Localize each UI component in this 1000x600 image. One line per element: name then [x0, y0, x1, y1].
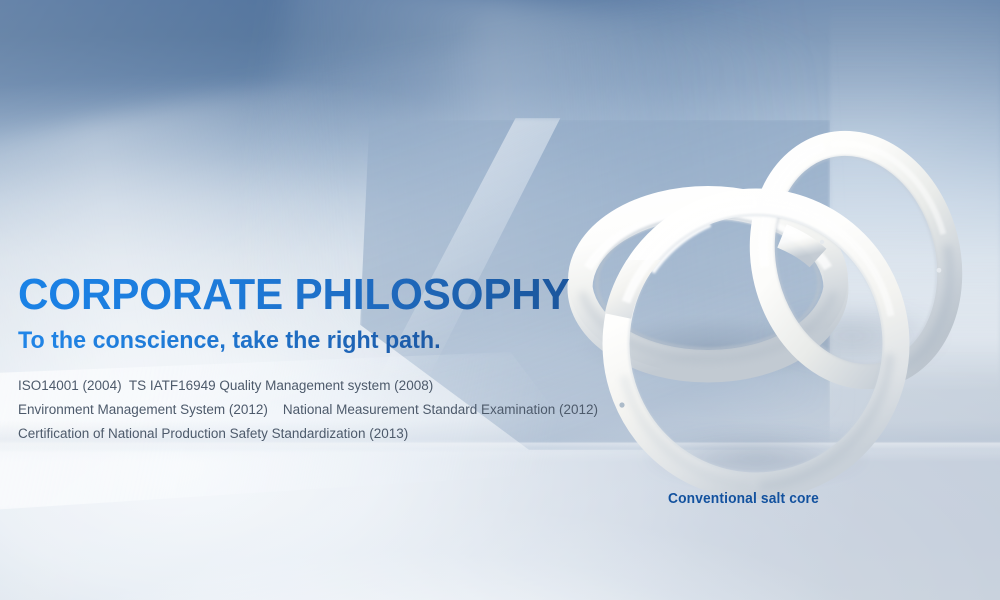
banner-copy-block: CORPORATE PHILOSOPHY To the conscience, …	[18, 272, 638, 446]
product-caption: Conventional salt core	[668, 491, 819, 507]
corporate-philosophy-banner: CORPORATE PHILOSOPHY To the conscience, …	[0, 0, 1000, 600]
page-subtitle: To the conscience, take the right path.	[18, 328, 619, 354]
ring-back-right	[738, 123, 974, 397]
ring-front	[616, 202, 896, 486]
certification-line: Certification of National Production Saf…	[18, 422, 638, 446]
certification-line: Environment Management System (2012) Nat…	[18, 398, 638, 422]
page-title: CORPORATE PHILOSOPHY	[18, 272, 613, 318]
certification-line: ISO14001 (2004) TS IATF16949 Quality Man…	[18, 374, 638, 398]
background-panel-right	[830, 0, 1000, 392]
certification-list: ISO14001 (2004) TS IATF16949 Quality Man…	[18, 374, 638, 446]
